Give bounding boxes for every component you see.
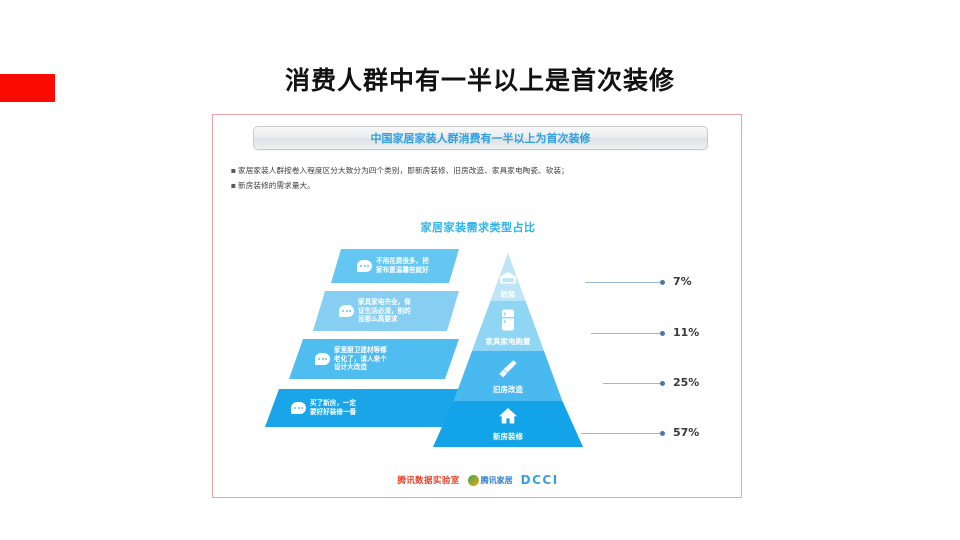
bullet-list: ▪ 家居家装人群按卷入程度区分大致分为四个类别，即新房装修、旧房改造、家具家电陶… bbox=[229, 165, 729, 195]
chart-title: 家居家装需求类型占比 bbox=[213, 219, 743, 235]
speech-icon bbox=[339, 305, 354, 317]
leader-dot bbox=[660, 431, 665, 436]
pyramid-tier-jiajujiadian: 家具家电购置 bbox=[433, 301, 583, 351]
pyramid-graphic: 软装 家具家电购置 bbox=[433, 253, 583, 457]
tencent-lab-logo: 腾讯数据实验室 bbox=[397, 474, 459, 486]
bullet-text: 新房装修的需求量大。 bbox=[238, 180, 315, 192]
tencent-jiaju-logo: 腾讯家居 bbox=[468, 475, 513, 486]
content-frame: 中国家居家装人群消费有一半以上为首次装修 ▪ 家居家装人群按卷入程度区分大致分为… bbox=[212, 114, 742, 498]
tier-label: 软装 bbox=[433, 289, 583, 300]
leader-dot bbox=[660, 280, 665, 285]
footer-logos: 腾讯数据实验室 腾讯家居 DCCI bbox=[213, 471, 743, 489]
speech-icon bbox=[357, 260, 372, 272]
dcci-logo: DCCI bbox=[521, 473, 559, 487]
pyramid-chart: 不用花费很多，把 家布置温馨些就好 家具家电齐全，保 证生活必须，别的 没那么高… bbox=[213, 241, 743, 461]
accent-block bbox=[0, 74, 55, 102]
tier-label: 新房装修 bbox=[433, 431, 583, 442]
list-item: ▪ 家居家装人群按卷入程度区分大致分为四个类别，即新房装修、旧房改造、家具家电陶… bbox=[229, 165, 729, 177]
subtitle-text: 中国家居家装人群消费有一半以上为首次装修 bbox=[254, 127, 707, 151]
leader-dot bbox=[660, 331, 665, 336]
refrigerator-icon bbox=[501, 309, 515, 331]
sofa-icon bbox=[499, 271, 517, 285]
leader-dot bbox=[660, 381, 665, 386]
bullet-text: 家居家装人群按卷入程度区分大致分为四个类别，即新房装修、旧房改造、家具家电陶瓷、… bbox=[238, 165, 569, 177]
pyramid-tier-jiufanggaizao: 旧房改造 bbox=[433, 351, 583, 401]
list-item: ▪ 新房装修的需求量大。 bbox=[229, 180, 729, 192]
house-icon bbox=[498, 407, 518, 425]
page-title: 消费人群中有一半以上是首次装修 bbox=[160, 64, 800, 98]
tier-label: 家具家电购置 bbox=[433, 336, 583, 347]
value-label-jiufanggaizao: 25% bbox=[673, 376, 699, 389]
leader-line bbox=[581, 433, 663, 434]
speech-icon bbox=[291, 402, 306, 414]
quote-text: 不用花费很多，把 家布置温馨些就好 bbox=[376, 257, 429, 274]
bullet-marker-icon: ▪ bbox=[229, 165, 238, 177]
value-label-xinfangzhuangxiu: 57% bbox=[673, 426, 699, 439]
pyramid-tier-ruanzhuang: 软装 bbox=[433, 253, 583, 301]
quote-text: 家具家电齐全，保 证生活必须，别的 没那么高要求 bbox=[358, 298, 411, 324]
leader-line bbox=[591, 333, 663, 334]
value-label-jiajujiadian: 11% bbox=[673, 326, 699, 339]
quote-text: 家里厨卫建材等都 老化了，请人来个 设计大改造 bbox=[334, 346, 387, 372]
quote-text: 买了新房，一定 要好好装修一番 bbox=[310, 399, 356, 416]
tier-label: 旧房改造 bbox=[433, 384, 583, 395]
leader-line bbox=[585, 282, 663, 283]
paintbrush-icon bbox=[497, 358, 519, 380]
speech-icon bbox=[315, 353, 330, 365]
bullet-marker-icon: ▪ bbox=[229, 180, 238, 192]
value-label-ruanzhuang: 7% bbox=[673, 275, 692, 288]
slide-canvas: 消费人群中有一半以上是首次装修 中国家居家装人群消费有一半以上为首次装修 ▪ 家… bbox=[0, 0, 960, 540]
tencent-badge-icon bbox=[468, 475, 479, 486]
tencent-jiaju-label: 腾讯家居 bbox=[481, 475, 513, 486]
leader-line bbox=[603, 383, 663, 384]
subtitle-bar: 中国家居家装人群消费有一半以上为首次装修 bbox=[253, 126, 708, 150]
pyramid-tier-xinfangzhuangxiu: 新房装修 bbox=[433, 401, 583, 447]
quote-bubble-xinfangzhuangxiu: 买了新房，一定 要好好装修一番 bbox=[265, 389, 459, 427]
